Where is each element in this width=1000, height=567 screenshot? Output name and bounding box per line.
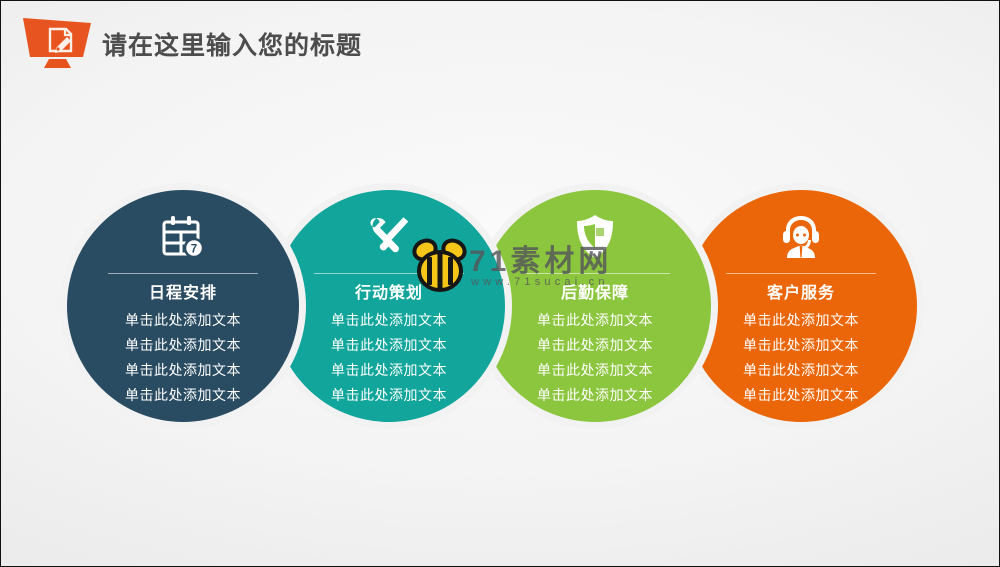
card-divider xyxy=(726,273,876,274)
circle-card-customer-service[interactable]: 客户服务 单击此处添加文本 单击此处添加文本 单击此处添加文本 单击此处添加文本 xyxy=(685,190,917,422)
circle-card-action-plan[interactable]: 行动策划 单击此处添加文本 单击此处添加文本 单击此处添加文本 单击此处添加文本 xyxy=(273,190,505,422)
card-line[interactable]: 单击此处添加文本 xyxy=(273,383,505,408)
card-line[interactable]: 单击此处添加文本 xyxy=(479,358,711,383)
wrench-screwdriver-icon xyxy=(273,212,505,262)
card-line[interactable]: 单击此处添加文本 xyxy=(479,333,711,358)
card-line[interactable]: 单击此处添加文本 xyxy=(479,383,711,408)
card-line[interactable]: 单击此处添加文本 xyxy=(273,308,505,333)
card-divider xyxy=(108,273,258,274)
card-line[interactable]: 单击此处添加文本 xyxy=(685,383,917,408)
card-title: 行动策划 xyxy=(273,283,505,305)
card-title: 日程安排 xyxy=(67,283,299,305)
card-line[interactable]: 单击此处添加文本 xyxy=(685,308,917,333)
card-line[interactable]: 单击此处添加文本 xyxy=(67,308,299,333)
card-body-lines: 单击此处添加文本 单击此处添加文本 单击此处添加文本 单击此处添加文本 xyxy=(67,308,299,408)
page-title: 请在这里输入您的标题 xyxy=(102,26,362,62)
card-line[interactable]: 单击此处添加文本 xyxy=(67,358,299,383)
card-line[interactable]: 单击此处添加文本 xyxy=(273,358,505,383)
card-line[interactable]: 单击此处添加文本 xyxy=(67,383,299,408)
shield-icon xyxy=(479,212,711,262)
slide-canvas: 请在这里输入您的标题 7 日程安排 单击此处添加文本 xyxy=(0,0,1000,567)
card-line[interactable]: 单击此处添加文本 xyxy=(685,358,917,383)
circle-card-schedule[interactable]: 7 日程安排 单击此处添加文本 单击此处添加文本 单击此处添加文本 单击此处添加… xyxy=(67,190,299,422)
svg-text:7: 7 xyxy=(191,243,197,255)
card-body-lines: 单击此处添加文本 单击此处添加文本 单击此处添加文本 单击此处添加文本 xyxy=(479,308,711,408)
card-line[interactable]: 单击此处添加文本 xyxy=(273,333,505,358)
card-title: 后勤保障 xyxy=(479,283,711,305)
card-body-lines: 单击此处添加文本 单击此处添加文本 单击此处添加文本 单击此处添加文本 xyxy=(685,308,917,408)
circle-card-row: 7 日程安排 单击此处添加文本 单击此处添加文本 单击此处添加文本 单击此处添加… xyxy=(1,190,1000,422)
card-line[interactable]: 单击此处添加文本 xyxy=(67,333,299,358)
card-line[interactable]: 单击此处添加文本 xyxy=(685,333,917,358)
monitor-document-pen-icon xyxy=(19,15,95,71)
slide-header: 请在这里输入您的标题 xyxy=(1,1,1000,79)
card-title: 客户服务 xyxy=(685,283,917,305)
headset-support-icon xyxy=(685,212,917,262)
circle-card-logistics[interactable]: 后勤保障 单击此处添加文本 单击此处添加文本 单击此处添加文本 单击此处添加文本 xyxy=(479,190,711,422)
card-divider xyxy=(520,273,670,274)
card-line[interactable]: 单击此处添加文本 xyxy=(479,308,711,333)
card-divider xyxy=(314,273,464,274)
card-body-lines: 单击此处添加文本 单击此处添加文本 单击此处添加文本 单击此处添加文本 xyxy=(273,308,505,408)
calendar-7-icon: 7 xyxy=(67,212,299,262)
